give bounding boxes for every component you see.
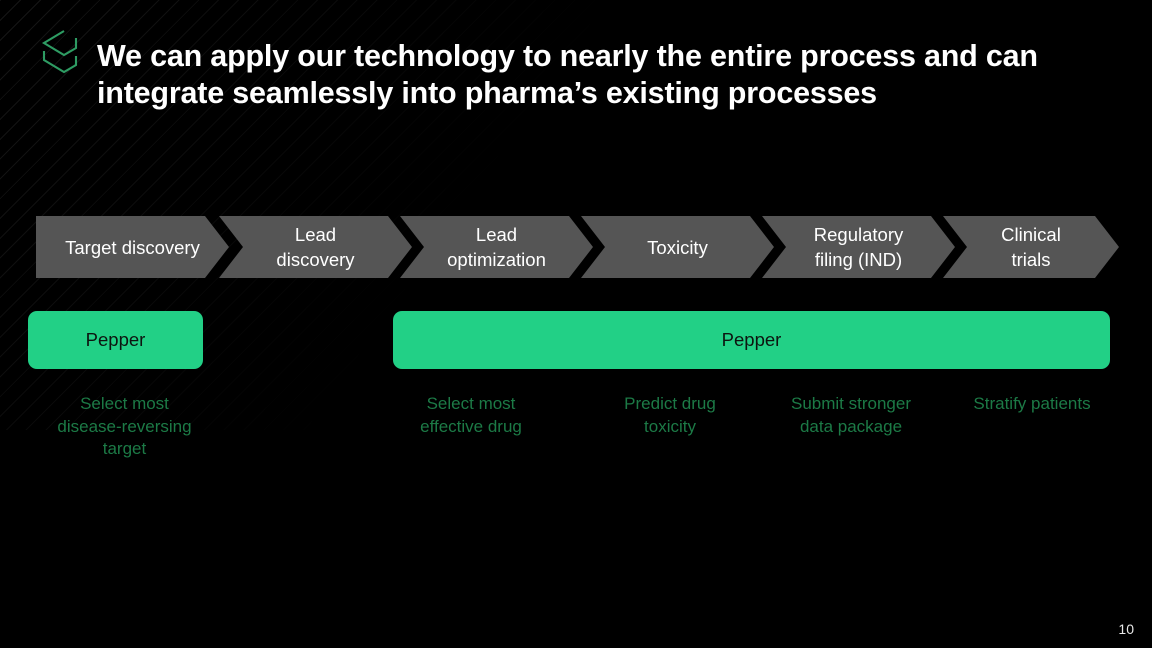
page-title: We can apply our technology to nearly th… [97, 38, 1107, 112]
process-stage-lead-optimization[interactable]: Lead optimization [400, 216, 593, 278]
page-title-line-1: We can apply our technology to nearly th… [97, 38, 1107, 75]
process-stage-row: Target discovery Lead discovery Lead opt… [36, 216, 1119, 278]
process-stage-label: Lead discovery [270, 222, 360, 272]
process-stage-label: Lead optimization [441, 222, 552, 272]
process-stage-label: Regulatory filing (IND) [808, 222, 909, 272]
pepper-coverage-bar-right[interactable]: Pepper [393, 311, 1110, 369]
process-stage-label: Clinical trials [995, 222, 1067, 272]
caption-toxicity: Predict drug toxicity [580, 393, 760, 438]
process-stage-lead-discovery[interactable]: Lead discovery [219, 216, 412, 278]
pepper-bar-label: Pepper [722, 329, 782, 351]
process-stage-label: Toxicity [641, 235, 714, 260]
slide-canvas: We can apply our technology to nearly th… [0, 0, 1152, 648]
process-stage-regulatory-filing[interactable]: Regulatory filing (IND) [762, 216, 955, 278]
caption-target-discovery: Select most disease-reversing target [28, 393, 221, 461]
page-title-line-2: integrate seamlessly into pharma’s exist… [97, 75, 1107, 112]
process-stage-label: Target discovery [59, 235, 206, 260]
pepper-bar-label: Pepper [86, 329, 146, 351]
caption-regulatory-filing: Submit stronger data package [761, 393, 941, 438]
page-number: 10 [1118, 621, 1134, 637]
pepper-coverage-bar-left[interactable]: Pepper [28, 311, 203, 369]
process-stage-target-discovery[interactable]: Target discovery [36, 216, 229, 278]
process-stage-toxicity[interactable]: Toxicity [581, 216, 774, 278]
stacked-layers-chevron-logo-icon [38, 29, 82, 75]
caption-clinical-trials: Stratify patients [942, 393, 1122, 416]
process-stage-clinical-trials[interactable]: Clinical trials [943, 216, 1119, 278]
caption-lead-optimization: Select most effective drug [381, 393, 561, 438]
